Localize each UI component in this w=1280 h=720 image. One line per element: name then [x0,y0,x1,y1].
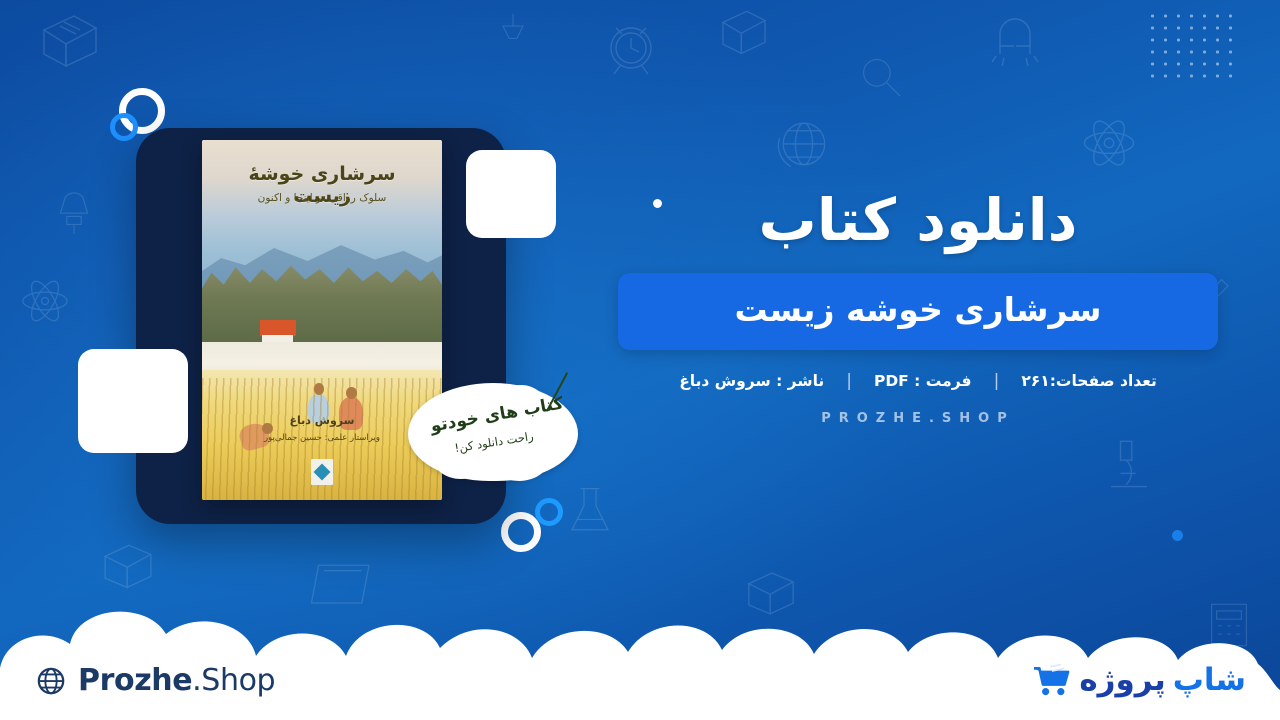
book-icon [34,8,104,78]
meta-format: فرمت : PDF [874,372,972,390]
content-column: دانلود کتاب سرشاری خوشه زیست ناشر : سروش… [618,190,1218,426]
magnifier-icon [852,48,910,106]
globe-icon [36,666,66,696]
footer-brand-right-word1: پروژه [1079,662,1165,698]
blue-ring-bottom [535,498,563,526]
shopping-cart-icon [1030,663,1072,697]
atom-icon [14,270,76,332]
meta-separator: | [846,371,852,391]
book-icon [712,4,776,68]
cover-editor: ویراستار علمی: حسین جمالی‌پور [226,433,418,443]
book-cover: سرشاری خوشهٔ زیست سلوک رواقی در اینجا و … [202,140,442,500]
white-square-right [466,150,556,238]
cover-treeline [202,259,442,345]
microscope-icon [1096,430,1162,496]
meta-pages: تعداد صفحات:۲۶۱ [1021,372,1156,390]
book-title-banner: سرشاری خوشه زیست [618,273,1218,350]
alarm-clock-icon [596,10,666,80]
white-square-left [78,349,188,453]
meta-publisher: ناشر : سروش دباغ [679,372,824,390]
page-title: دانلود کتاب [618,190,1218,251]
white-ring-bottom [501,512,541,552]
brand-bold: Prozhe [78,663,192,698]
blue-dot [1172,530,1183,541]
dot-grid-pattern [1146,10,1238,82]
footer-brand-right[interactable]: شاپ پروژه [1030,662,1246,698]
lamp-icon [486,6,540,60]
footer-brand-left[interactable]: Prozhe.Shop [36,663,275,698]
cover-author: سروش دباغ [231,414,413,427]
blue-ring-top [110,113,138,141]
footer-brand-right-word2: شاپ [1173,662,1246,698]
lamp-icon [46,186,102,242]
book-title-text: سرشاری خوشه زیست [638,292,1198,328]
cover-house-roof [260,320,296,336]
book-metadata: ناشر : سروش دباغ | فرمت : PDF | تعداد صف… [618,371,1218,391]
cover-subtitle: سلوک رواقی در اینجا و اکنون [221,192,423,204]
footer-brand-left-text: Prozhe.Shop [78,663,275,698]
promo-banner: سرشاری خوشهٔ زیست سلوک رواقی در اینجا و … [0,0,1280,720]
globe-icon [770,110,836,176]
cover-publisher-logo [311,459,333,485]
site-watermark: PROZHE.SHOP [618,411,1218,426]
magnet-icon [980,6,1050,76]
brand-rest: .Shop [192,663,275,698]
atom-icon [1076,110,1142,176]
flask-icon [560,480,620,540]
meta-separator: | [994,371,1000,391]
